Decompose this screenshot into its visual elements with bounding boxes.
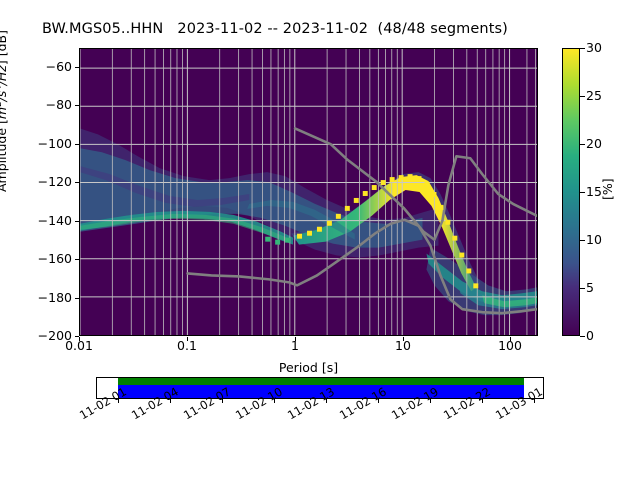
colorbar-tickmark	[580, 336, 585, 337]
colorbar-tickmark	[580, 192, 585, 193]
x-axis-title: Period [s]	[79, 360, 538, 375]
x-axis-label-1: 1	[291, 340, 299, 353]
colorbar-label-30: 30	[586, 42, 602, 55]
colorbar-title: [%]	[600, 178, 615, 200]
mode-marker-series	[80, 49, 537, 335]
y-tickmark	[75, 182, 79, 183]
x-axis-label-10: 10	[395, 340, 411, 353]
x-axis-label-0p01: 0.01	[65, 340, 93, 353]
x-axis-label-100: 100	[498, 340, 522, 353]
y-axis-label-n100: −100	[26, 138, 72, 151]
y-tickmark	[75, 105, 79, 106]
ppsd-figure: BW.MGS05..HHN 2023-11-02 -- 2023-11-02 (…	[0, 0, 640, 480]
colorbar-label-0: 0	[586, 330, 594, 343]
y-tickmark	[75, 67, 79, 68]
y-axis-label-n60: −60	[26, 61, 72, 74]
y-axis-title: Amplitude [m2/s4/Hz] [dB]	[0, 30, 9, 192]
colorbar-tickmark	[580, 288, 585, 289]
y-axis-label-n120: −120	[26, 176, 72, 189]
colorbar-gradient	[562, 48, 580, 336]
y-tickmark	[75, 259, 79, 260]
y-tickmark	[75, 298, 79, 299]
colorbar-label-10: 10	[586, 234, 602, 247]
colorbar-tickmark	[580, 96, 585, 97]
ppsd-plot-area[interactable]	[79, 48, 538, 336]
colorbar-tickmark	[580, 240, 585, 241]
y-tickmark	[75, 221, 79, 222]
y-axis-label-n180: −180	[26, 292, 72, 305]
y-axis-label-n140: −140	[26, 215, 72, 228]
colorbar-tickmark	[580, 48, 585, 49]
y-tickmark	[75, 144, 79, 145]
colorbar-tickmark	[580, 144, 585, 145]
y-axis-label-n80: −80	[26, 99, 72, 112]
colorbar-label-25: 25	[586, 90, 602, 103]
psd-coverage-bar	[118, 378, 523, 385]
page-title: BW.MGS05..HHN 2023-11-02 -- 2023-11-02 (…	[42, 21, 602, 37]
colorbar-label-5: 5	[586, 282, 594, 295]
x-axis-label-0p1: 0.1	[177, 340, 197, 353]
colorbar-label-20: 20	[586, 138, 602, 151]
y-axis-label-n160: −160	[26, 253, 72, 266]
